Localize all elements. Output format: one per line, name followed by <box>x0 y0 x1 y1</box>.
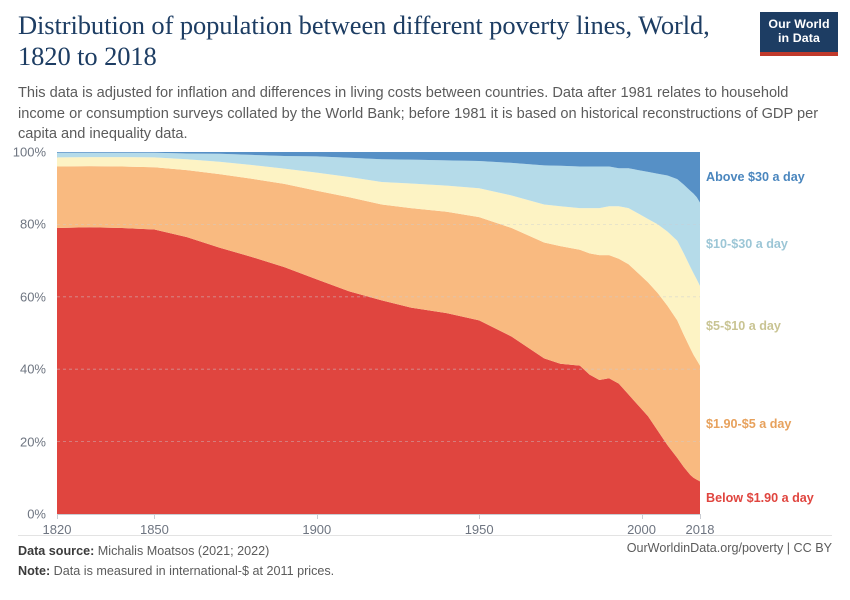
stacked-area-svg <box>57 152 700 514</box>
owid-logo[interactable]: Our World in Data <box>760 12 838 56</box>
x-axis-tick-mark <box>479 514 480 519</box>
owid-logo-line2: in Data <box>764 32 834 46</box>
legend-series-label[interactable]: Above $30 a day <box>706 170 805 184</box>
footer-note-line: Note: Data is measured in international-… <box>18 561 832 581</box>
legend-series-label[interactable]: Below $1.90 a day <box>706 491 814 505</box>
x-axis-tick-mark <box>700 514 701 519</box>
footer-divider <box>18 535 832 536</box>
page-title: Distribution of population between diffe… <box>18 10 758 71</box>
owid-logo-line1: Our World <box>764 18 834 32</box>
chart-legend: Below $1.90 a day$1.90-$5 a day$5-$10 a … <box>706 140 850 532</box>
chart-subtitle: This data is adjusted for inflation and … <box>18 83 823 143</box>
x-axis-tick-mark <box>154 514 155 519</box>
footer-note-value: Data is measured in international-$ at 2… <box>50 564 334 578</box>
owid-logo-box: Our World in Data <box>760 12 838 52</box>
x-axis-tick-mark <box>317 514 318 519</box>
legend-series-label[interactable]: $1.90-$5 a day <box>706 417 791 431</box>
footer-note-key: Note: <box>18 564 50 578</box>
stacked-area-plot <box>57 152 700 514</box>
footer-source-key: Data source: <box>18 544 94 558</box>
x-axis-tick-mark <box>642 514 643 519</box>
owid-chart-page: Distribution of population between diffe… <box>0 0 850 600</box>
legend-series-label[interactable]: $10-$30 a day <box>706 237 788 251</box>
chart-footer: Data source: Michalis Moatsos (2021; 202… <box>18 541 832 582</box>
chart-header: Distribution of population between diffe… <box>18 10 758 144</box>
legend-series-label[interactable]: $5-$10 a day <box>706 319 781 333</box>
footer-source-value: Michalis Moatsos (2021; 2022) <box>94 544 269 558</box>
owid-logo-underline <box>760 52 838 56</box>
footer-attribution[interactable]: OurWorldinData.org/poverty | CC BY <box>627 541 832 555</box>
x-axis-tick-mark <box>57 514 58 519</box>
